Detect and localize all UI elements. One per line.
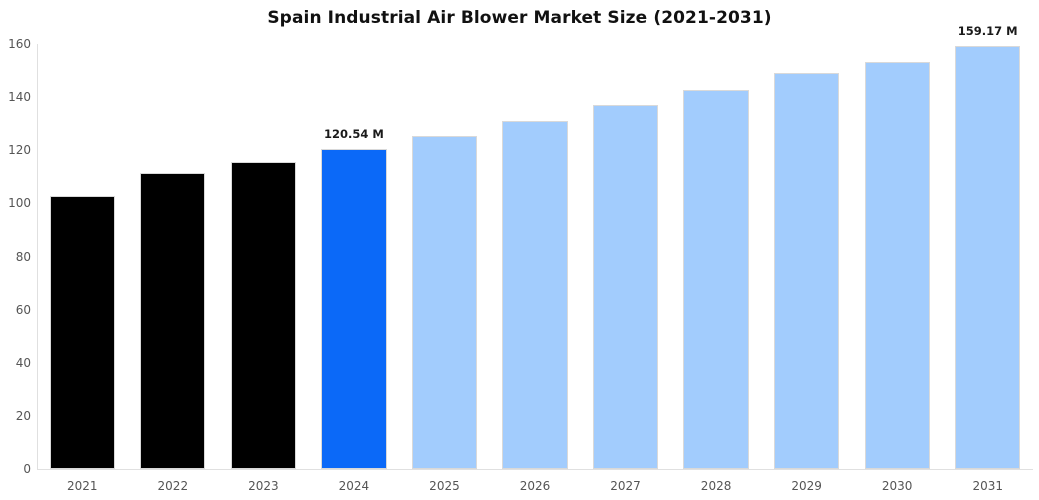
bar-2029[interactable]: [774, 73, 839, 469]
x-axis-tick-label-2025: 2025: [429, 479, 460, 493]
bar-2031[interactable]: [955, 46, 1020, 469]
x-axis-tick-label-2028: 2028: [701, 479, 732, 493]
bar-2027[interactable]: [593, 105, 658, 469]
x-axis-tick-label-2021: 2021: [67, 479, 98, 493]
y-axis-tick-label: 100: [0, 196, 31, 210]
bar-2028[interactable]: [683, 90, 748, 469]
bar-value-label-2024: 120.54 M: [324, 127, 384, 141]
bar-2026[interactable]: [502, 121, 567, 469]
y-axis-line: [37, 44, 38, 470]
bar-2025[interactable]: [412, 136, 477, 469]
y-axis-tick-label: 80: [0, 250, 31, 264]
bar-2024[interactable]: [321, 149, 386, 469]
x-axis-tick-label-2023: 2023: [248, 479, 279, 493]
bar-2022[interactable]: [140, 173, 205, 469]
y-axis-tick-label: 60: [0, 303, 31, 317]
x-axis-tick-label-2030: 2030: [882, 479, 913, 493]
y-axis-tick-label: 160: [0, 37, 31, 51]
y-axis-tick-label: 20: [0, 409, 31, 423]
bar-chart: Spain Industrial Air Blower Market Size …: [0, 0, 1039, 500]
y-axis-tick-label: 140: [0, 90, 31, 104]
chart-title: Spain Industrial Air Blower Market Size …: [0, 8, 1039, 28]
bar-2023[interactable]: [231, 162, 296, 469]
x-axis-tick-label-2026: 2026: [520, 479, 551, 493]
bar-2030[interactable]: [865, 62, 930, 469]
x-axis-tick-label-2031: 2031: [972, 479, 1003, 493]
x-axis-tick-label-2022: 2022: [158, 479, 189, 493]
x-axis-tick-label-2024: 2024: [339, 479, 370, 493]
x-axis-tick-label-2027: 2027: [610, 479, 641, 493]
y-axis-tick-label: 40: [0, 356, 31, 370]
x-axis-tick-label-2029: 2029: [791, 479, 822, 493]
y-axis-tick-label: 120: [0, 143, 31, 157]
x-axis-line: [37, 469, 1033, 470]
bar-value-label-2031: 159.17 M: [958, 24, 1018, 38]
bar-2021[interactable]: [50, 196, 115, 469]
y-axis-tick-label: 0: [0, 462, 31, 476]
